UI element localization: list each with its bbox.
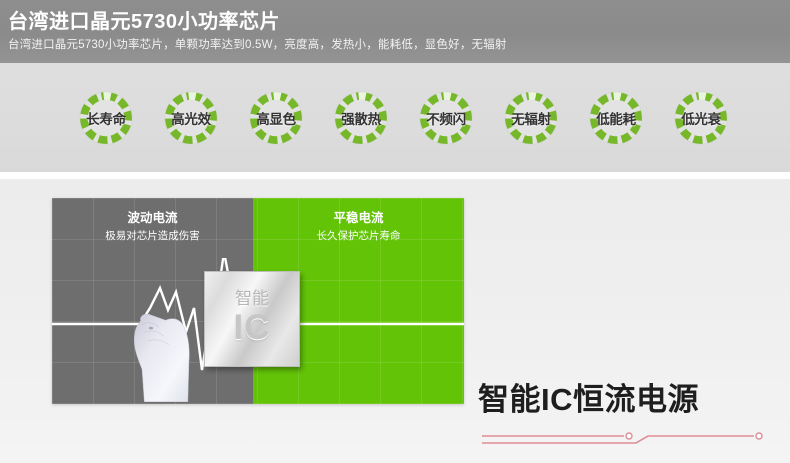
badge-label: 长寿命: [72, 90, 140, 146]
decorative-divider-icon: [478, 429, 768, 455]
feature-badge-5[interactable]: 不频闪: [418, 90, 474, 146]
stable-current-caption: 平稳电流 长久保护芯片寿命: [253, 198, 464, 244]
badge-label: 低光衰: [667, 90, 735, 146]
feature-badge-4[interactable]: 强散热: [333, 90, 389, 146]
feature-badge-3[interactable]: 高显色: [248, 90, 304, 146]
right-text-panel: 智能IC恒流电源 专业稳流 寿命保证 专业的IC恒流电源为灯珠提供稳定电流。确保…: [478, 358, 790, 463]
current-comparison-illustration: 波动电流 极易对芯片造成伤害 平稳电流 长久保护芯片寿命 智能 IC: [52, 198, 464, 404]
badge-label: 无辐射: [497, 90, 565, 146]
gloved-hand-icon: [80, 318, 270, 404]
badge-label: 强散热: [327, 90, 395, 146]
badge-label: 不频闪: [412, 90, 480, 146]
main-section: 波动电流 极易对芯片造成伤害 平稳电流 长久保护芯片寿命 智能 IC: [0, 179, 790, 463]
stable-current-subtitle: 长久保护芯片寿命: [253, 229, 464, 244]
badge-label: 低能耗: [582, 90, 650, 146]
product-detail-page: 台湾进口晶元5730小功率芯片 台湾进口晶元5730小功率芯片，单颗功率达到0.…: [0, 0, 790, 463]
badge-label: 高显色: [242, 90, 310, 146]
page-title: 台湾进口晶元5730小功率芯片: [8, 5, 280, 34]
unstable-current-caption: 波动电流 极易对芯片造成伤害: [52, 198, 253, 244]
feature-badge-7[interactable]: 低能耗: [588, 90, 644, 146]
page-header: 台湾进口晶元5730小功率芯片 台湾进口晶元5730小功率芯片，单颗功率达到0.…: [0, 0, 790, 63]
chip-label-line1: 智能: [205, 284, 299, 309]
feature-badge-6[interactable]: 无辐射: [503, 90, 559, 146]
feature-badge-8[interactable]: 低光衰: [673, 90, 729, 146]
feature-badge-strip: 长寿命高光效高显色强散热不频闪无辐射低能耗低光衰: [0, 63, 790, 172]
section-divider: [0, 172, 790, 179]
feature-badge-1[interactable]: 长寿命: [78, 90, 134, 146]
unstable-current-title: 波动电流: [52, 209, 253, 227]
page-subtitle: 台湾进口晶元5730小功率芯片，单颗功率达到0.5W，亮度高，发热小，能耗低，显…: [8, 36, 507, 52]
stable-current-title: 平稳电流: [253, 209, 464, 227]
feature-title: 智能IC恒流电源: [478, 374, 699, 419]
feature-badge-2[interactable]: 高光效: [163, 90, 219, 146]
badge-label: 高光效: [157, 90, 225, 146]
feature-badge-list: 长寿命高光效高显色强散热不频闪无辐射低能耗低光衰: [0, 78, 790, 158]
unstable-current-subtitle: 极易对芯片造成伤害: [52, 229, 253, 244]
